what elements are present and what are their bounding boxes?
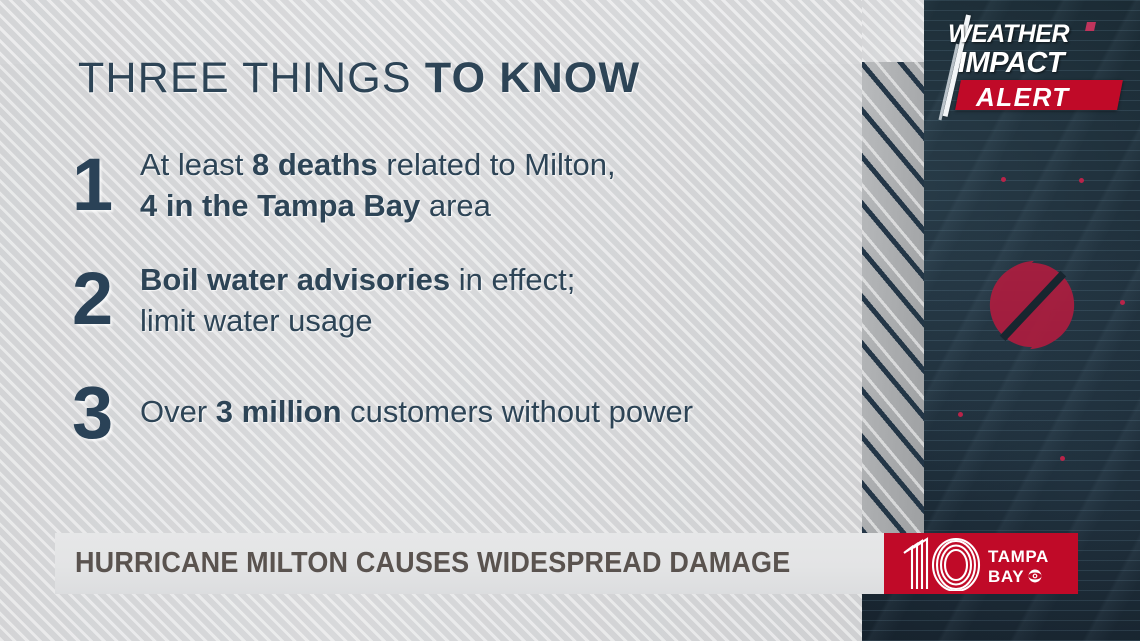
list-item-number: 3 xyxy=(72,376,113,450)
station-market-name: TAMPA BAY xyxy=(988,547,1049,586)
item1-line2-post: area xyxy=(420,188,491,223)
lower-third-headline: HURRICANE MILTON CAUSES WIDESPREAD DAMAG… xyxy=(75,547,790,580)
item2-line1-bold: Boil water advisories xyxy=(140,262,450,297)
hurricane-symbol-icon xyxy=(983,256,1081,354)
page-title-bold: TO KNOW xyxy=(425,54,640,102)
item1-line1-bold: 8 deaths xyxy=(252,147,378,182)
panel-notch-fill xyxy=(862,0,924,62)
decorative-red-dot xyxy=(1120,300,1125,305)
station-market-line2: BAY xyxy=(988,567,1024,587)
list-item-number: 2 xyxy=(72,262,113,336)
item1-line1-pre: At least xyxy=(140,147,252,182)
channel-number-10-icon xyxy=(898,537,982,591)
station-market-line2-row: BAY xyxy=(988,567,1049,587)
logo-line-alert: ALERT xyxy=(976,82,1070,113)
list-item-text: Boil water advisories in effect;limit wa… xyxy=(140,259,575,341)
decorative-red-dot xyxy=(1079,178,1084,183)
item1-line1-post: related to Milton, xyxy=(378,147,616,182)
list-item-text: At least 8 deaths related to Milton,4 in… xyxy=(140,144,616,226)
item1-line2-bold: 4 in the Tampa Bay xyxy=(140,188,420,223)
item2-line2-post: limit water usage xyxy=(140,303,373,338)
item3-line1-post: customers without power xyxy=(342,394,693,429)
diagonal-hatch-divider xyxy=(862,62,924,534)
decorative-red-dot xyxy=(958,412,963,417)
logo-accent-square xyxy=(1085,22,1096,31)
logo-line-impact: IMPACT xyxy=(958,47,1064,80)
page-title: THREE THINGS TO KNOW xyxy=(78,54,640,103)
list-item-text: Over 3 million customers without power xyxy=(140,391,693,432)
weather-impact-alert-logo: WEATHER IMPACT ALERT xyxy=(938,18,1134,114)
decorative-red-dot xyxy=(1060,456,1065,461)
page-title-normal: THREE THINGS xyxy=(78,54,425,102)
station-logo-block: TAMPA BAY xyxy=(884,533,1078,594)
station-market-line1: TAMPA xyxy=(988,547,1049,567)
decorative-red-dot xyxy=(1001,177,1006,182)
list-item-number: 1 xyxy=(72,148,113,222)
logo-line-weather: WEATHER xyxy=(948,20,1069,49)
station-market-line1-row: TAMPA xyxy=(988,547,1049,567)
cbs-eye-icon xyxy=(1028,569,1042,583)
item3-line1-pre: Over xyxy=(140,394,216,429)
item2-line1-post: in effect; xyxy=(450,262,575,297)
broadcast-graphic: WEATHER IMPACT ALERT THREE THINGS TO KNO… xyxy=(0,0,1140,641)
item3-line1-bold: 3 million xyxy=(216,394,342,429)
lower-third-banner: HURRICANE MILTON CAUSES WIDESPREAD DAMAG… xyxy=(55,533,885,594)
